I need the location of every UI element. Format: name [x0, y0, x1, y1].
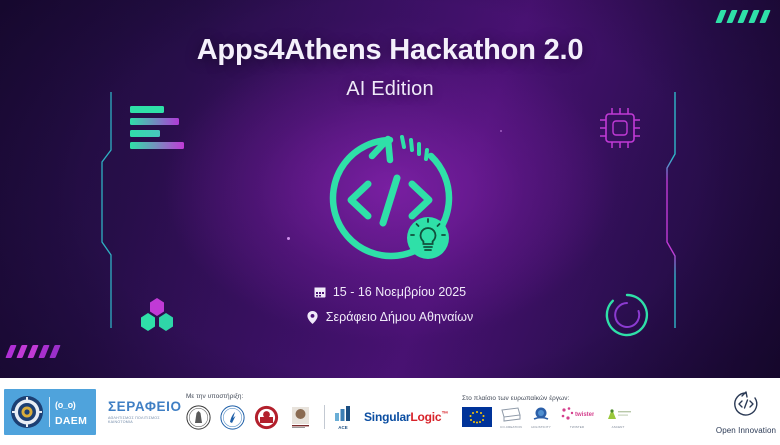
project-caption: HOLISTICITY — [531, 425, 551, 429]
footer-open-innovation: Open Innovation — [712, 378, 780, 445]
university-seal-icon — [220, 405, 245, 430]
slanted-dashes-icon — [718, 10, 768, 23]
eu-projects-label: Στο πλαίσιο των ευρωπαϊκών έργων: — [462, 395, 712, 402]
cpu-chip-icon — [594, 102, 646, 154]
event-date-text: 15 - 16 Νοεμβρίου 2025 — [333, 285, 466, 299]
project-logo-icon: ASCENT — [603, 406, 633, 429]
hero-banner: Apps4Athens Hackathon 2.0 AI Edition — [0, 0, 780, 378]
project-logo-icon: HOLISTICITY — [531, 406, 551, 429]
slanted-dashes-icon — [8, 345, 58, 358]
svg-text:twister: twister — [575, 412, 594, 418]
university-seal-icon — [186, 405, 211, 430]
event-meta: 15 - 16 Νοεμβρίου 2025 Σεράφειο Δήμου Αθ… — [0, 285, 780, 335]
daem-eyes-mark: (o_o) — [55, 400, 76, 410]
code-loop-lightbulb-icon — [318, 128, 462, 268]
supporters-label: Με την υποστήριξη: — [186, 393, 462, 400]
eu-flag-icon — [462, 407, 492, 427]
ace-logo-icon: ACE — [333, 404, 353, 430]
ace-caption: ACE — [338, 425, 348, 430]
open-innovation-label: Open Innovation — [716, 426, 776, 435]
logo-divider — [324, 405, 325, 429]
project-logo-icon: CO-CREATION — [500, 406, 522, 429]
daem-name: DAEM — [55, 415, 87, 427]
footer-supporters: Με την υποστήριξη: — [186, 378, 462, 445]
page-title: Apps4Athens Hackathon 2.0 — [0, 34, 780, 67]
project-caption: CO-CREATION — [500, 425, 522, 429]
singularlogic-logo: SingularLogic™ — [364, 410, 448, 424]
university-seal-icon — [288, 405, 313, 430]
poster-page: Apps4Athens Hackathon 2.0 AI Edition — [0, 0, 780, 445]
athens-city-seal-icon — [10, 395, 44, 429]
serafeio-logo: ΣΕΡΑΦΕΙΟ ΑΘΛΗΤΙΣΜΟΣ ΠΟΛΙΤΙΣΜΟΣ ΚΑΙΝΟΤΟΜΙ… — [108, 399, 186, 424]
sparkle-dot — [287, 237, 290, 240]
serafeio-subtitle: ΑΘΛΗΤΙΣΜΟΣ ΠΟΛΙΤΙΣΜΟΣ ΚΑΙΝΟΤΟΜΙΑ — [108, 416, 186, 424]
sparkle-dot — [500, 130, 502, 132]
logo-divider — [49, 397, 50, 427]
project-caption: ASCENT — [612, 425, 625, 429]
hero-title-block: Apps4Athens Hackathon 2.0 AI Edition — [0, 34, 780, 101]
calendar-icon — [314, 286, 326, 299]
event-location-row: Σεράφειο Δήμου Αθηναίων — [0, 310, 780, 324]
serafeio-title: ΣΕΡΑΦΕΙΟ — [108, 399, 186, 414]
singularlogic-primary: Singular — [364, 410, 410, 424]
page-subtitle: AI Edition — [0, 78, 780, 101]
footer-bar: (o_o) DAEM ΣΕΡΑΦΕΙΟ ΑΘΛΗΤΙΣΜΟΣ ΠΟΛΙΤΙΣΜΟ… — [0, 378, 780, 445]
open-innovation-code-loop-icon — [729, 389, 763, 424]
footer-eu-projects: Στο πλαίσιο των ευρωπαϊκών έργων: — [462, 378, 712, 445]
daem-logo: (o_o) DAEM — [4, 389, 96, 435]
trademark-mark: ™ — [441, 411, 448, 418]
location-pin-icon — [307, 311, 319, 324]
footer-organizers: (o_o) DAEM ΣΕΡΑΦΕΙΟ ΑΘΛΗΤΙΣΜΟΣ ΠΟΛΙΤΙΣΜΟ… — [0, 378, 186, 445]
project-caption: TWISTER — [570, 425, 584, 429]
bar-chart-icon — [130, 106, 188, 148]
university-seal-icon — [254, 405, 279, 430]
event-date-row: 15 - 16 Νοεμβρίου 2025 — [0, 285, 780, 299]
project-logo-icon: twister TWISTER — [560, 406, 594, 429]
singularlogic-secondary: Logic — [410, 410, 441, 424]
event-location-text: Σεράφειο Δήμου Αθηναίων — [326, 310, 473, 324]
